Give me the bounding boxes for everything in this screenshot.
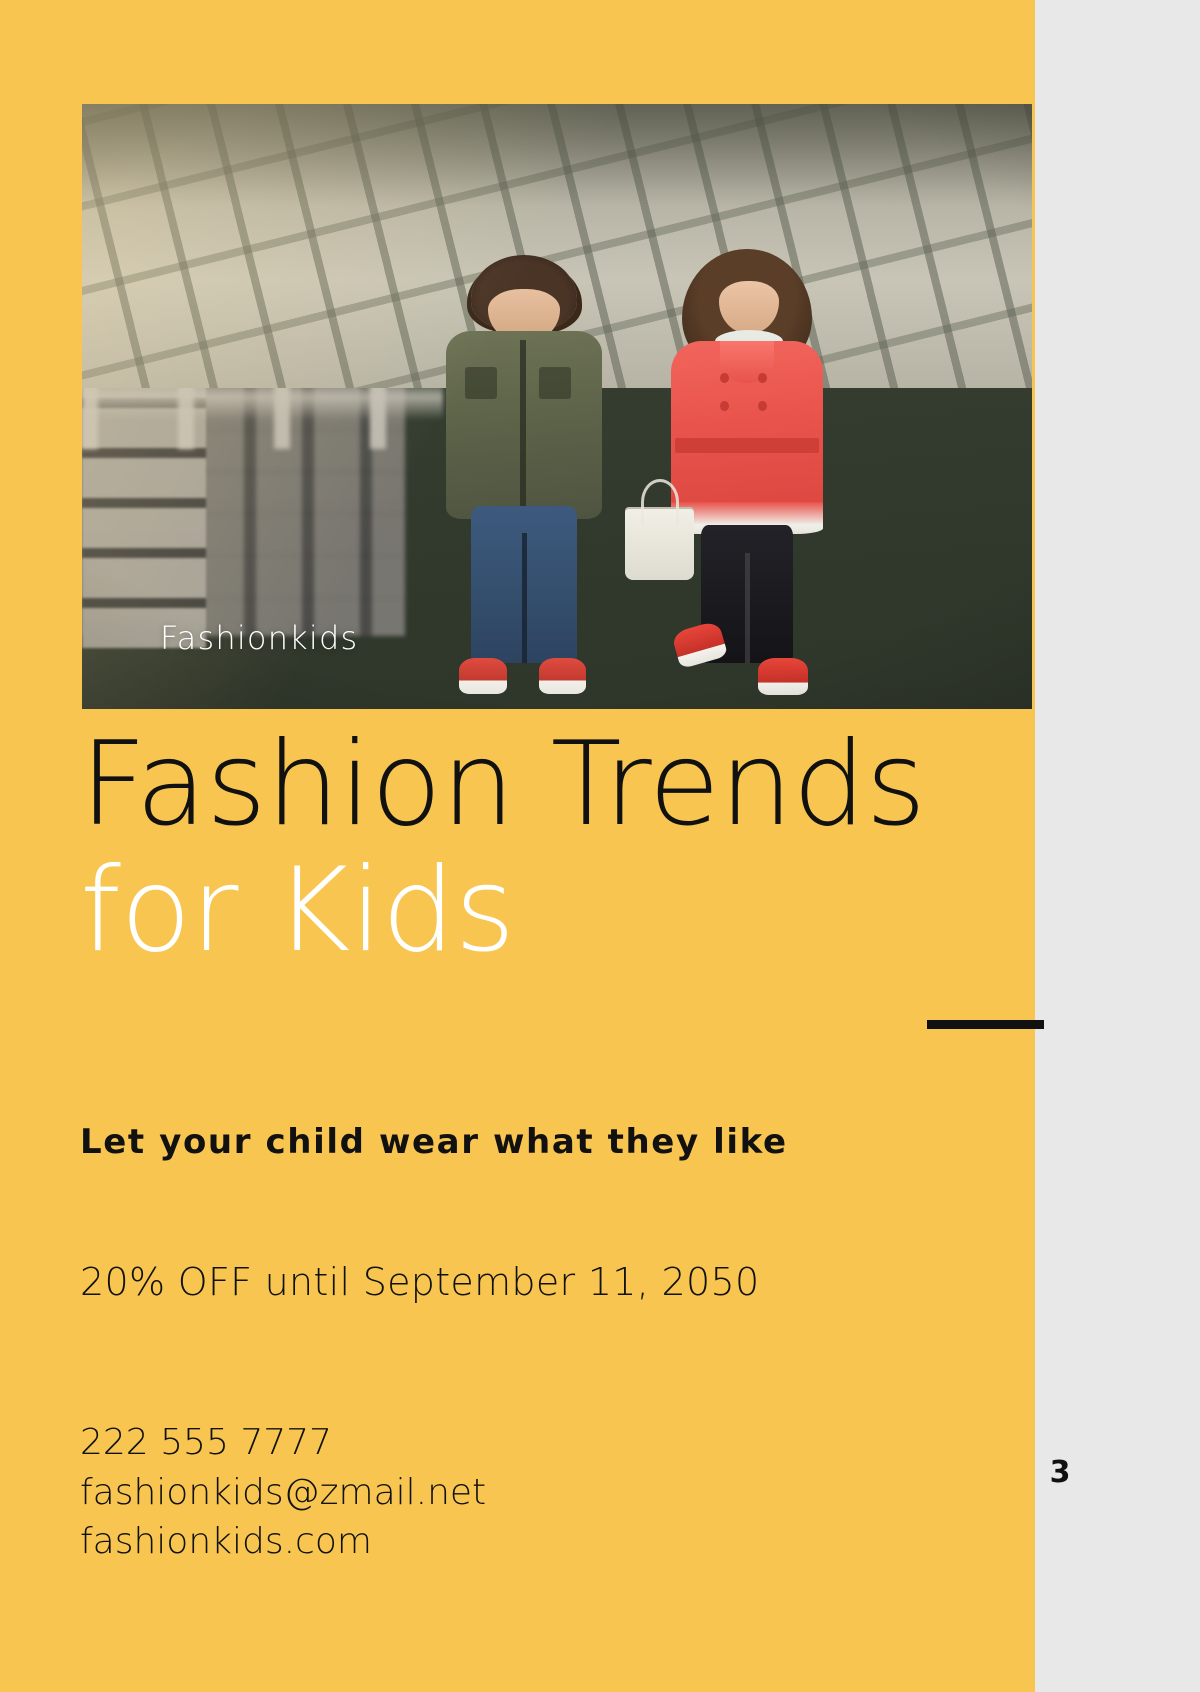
- right-grey-strip: [1035, 0, 1200, 1692]
- headline-line-2: for Kids: [80, 852, 980, 970]
- photo-brand-label: Fashionkids: [160, 619, 358, 657]
- poster-page: Fashionkids Fashion Trends for Kids Let …: [0, 0, 1200, 1692]
- accent-rule: [927, 1020, 1044, 1029]
- contact-block: 222 555 7777 fashionkids@zmail.net fashi…: [80, 1418, 486, 1567]
- contact-email[interactable]: fashionkids@zmail.net: [80, 1468, 486, 1518]
- headline-block: Fashion Trends for Kids: [80, 726, 980, 971]
- contact-phone[interactable]: 222 555 7777: [80, 1418, 486, 1468]
- page-number: 3: [1030, 1455, 1090, 1490]
- hero-photo: Fashionkids: [82, 104, 1032, 709]
- contact-website[interactable]: fashionkids.com: [80, 1517, 486, 1567]
- tagline: Let your child wear what they like: [80, 1122, 788, 1162]
- offer-text: 20% OFF until September 11, 2050: [80, 1260, 759, 1304]
- headline-line-1: Fashion Trends: [80, 726, 980, 844]
